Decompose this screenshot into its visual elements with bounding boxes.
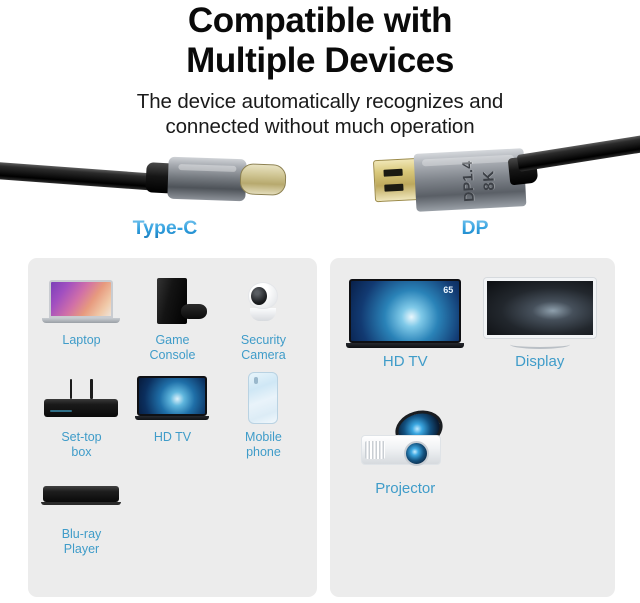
screen-size-badge: 65 (443, 285, 453, 295)
device-item-laptop: Laptop (36, 274, 127, 363)
device-label: Game Console (150, 333, 196, 363)
device-label: Projector (375, 480, 435, 498)
device-label-line1: Game (150, 333, 196, 348)
type-c-connector-shell (167, 157, 246, 202)
device-label: Security Camera (241, 333, 286, 363)
dp-spec-print: DP1.4 (459, 160, 477, 202)
source-devices-panel: Laptop Game Console (28, 258, 317, 597)
mobile-phone-icon (220, 371, 306, 425)
bluray-player-icon (38, 468, 124, 522)
hd-tv-icon (129, 371, 215, 425)
display-devices-panel: 65 HD TV Display (330, 258, 615, 597)
device-item-game-console: Game Console (127, 274, 218, 363)
device-label: Set-top box (61, 430, 101, 460)
device-item-security-camera: Security Camera (218, 274, 309, 363)
hd-tv-icon: 65 (343, 280, 467, 346)
device-label-line2: Console (150, 348, 196, 363)
device-label: Display (515, 353, 564, 371)
device-label: Mobile phone (245, 430, 282, 460)
display-monitor-icon (478, 280, 602, 346)
cable-jacket-left (0, 162, 156, 191)
device-label-line1: Set-top (61, 430, 101, 445)
device-item-hd-tv: HD TV (127, 371, 218, 460)
security-camera-icon (220, 274, 306, 328)
type-c-caption: Type-C (0, 217, 330, 240)
display-devices-grid: 65 HD TV Display (330, 258, 615, 506)
display-item-hd-tv: 65 HD TV (338, 280, 473, 371)
device-label-line1: Mobile (245, 430, 282, 445)
device-label-line2: Player (62, 542, 102, 557)
projector-icon (343, 407, 467, 473)
device-label: HD TV (154, 430, 191, 445)
page-title-line1: Compatible with (0, 0, 640, 40)
dp-resolution-print: 8K (480, 170, 498, 191)
device-label-line2: Camera (241, 348, 286, 363)
dp-caption: DP (330, 217, 620, 240)
device-item-set-top-box: Set-top box (36, 371, 127, 460)
page-subtitle-line2: connected without much operation (0, 114, 640, 139)
display-item-monitor: Display (473, 280, 608, 371)
page-header: Compatible with Multiple Devices The dev… (0, 0, 640, 139)
cable-illustration: DP1.4 8K Type-C DP (0, 145, 640, 250)
game-console-icon (129, 274, 215, 328)
device-item-mobile-phone: Mobile phone (218, 371, 309, 460)
type-c-plug-tip (239, 163, 286, 196)
device-label: Blu-ray Player (62, 527, 102, 557)
set-top-box-icon (38, 371, 124, 425)
device-label-line1: Blu-ray (62, 527, 102, 542)
device-label-line2: phone (245, 445, 282, 460)
laptop-icon (38, 274, 124, 328)
device-label-line2: box (61, 445, 101, 460)
page-title-line2: Multiple Devices (0, 40, 640, 80)
device-panels: Laptop Game Console (0, 258, 640, 603)
source-devices-grid: Laptop Game Console (28, 258, 317, 565)
device-label: Laptop (62, 333, 100, 348)
device-label: HD TV (383, 353, 428, 371)
cable-jacket-right (517, 135, 640, 172)
page-subtitle-line1: The device automatically recognizes and (0, 80, 640, 114)
display-item-projector: Projector (338, 407, 473, 498)
device-item-bluray-player: Blu-ray Player (36, 468, 127, 557)
device-label-line1: Security (241, 333, 286, 348)
